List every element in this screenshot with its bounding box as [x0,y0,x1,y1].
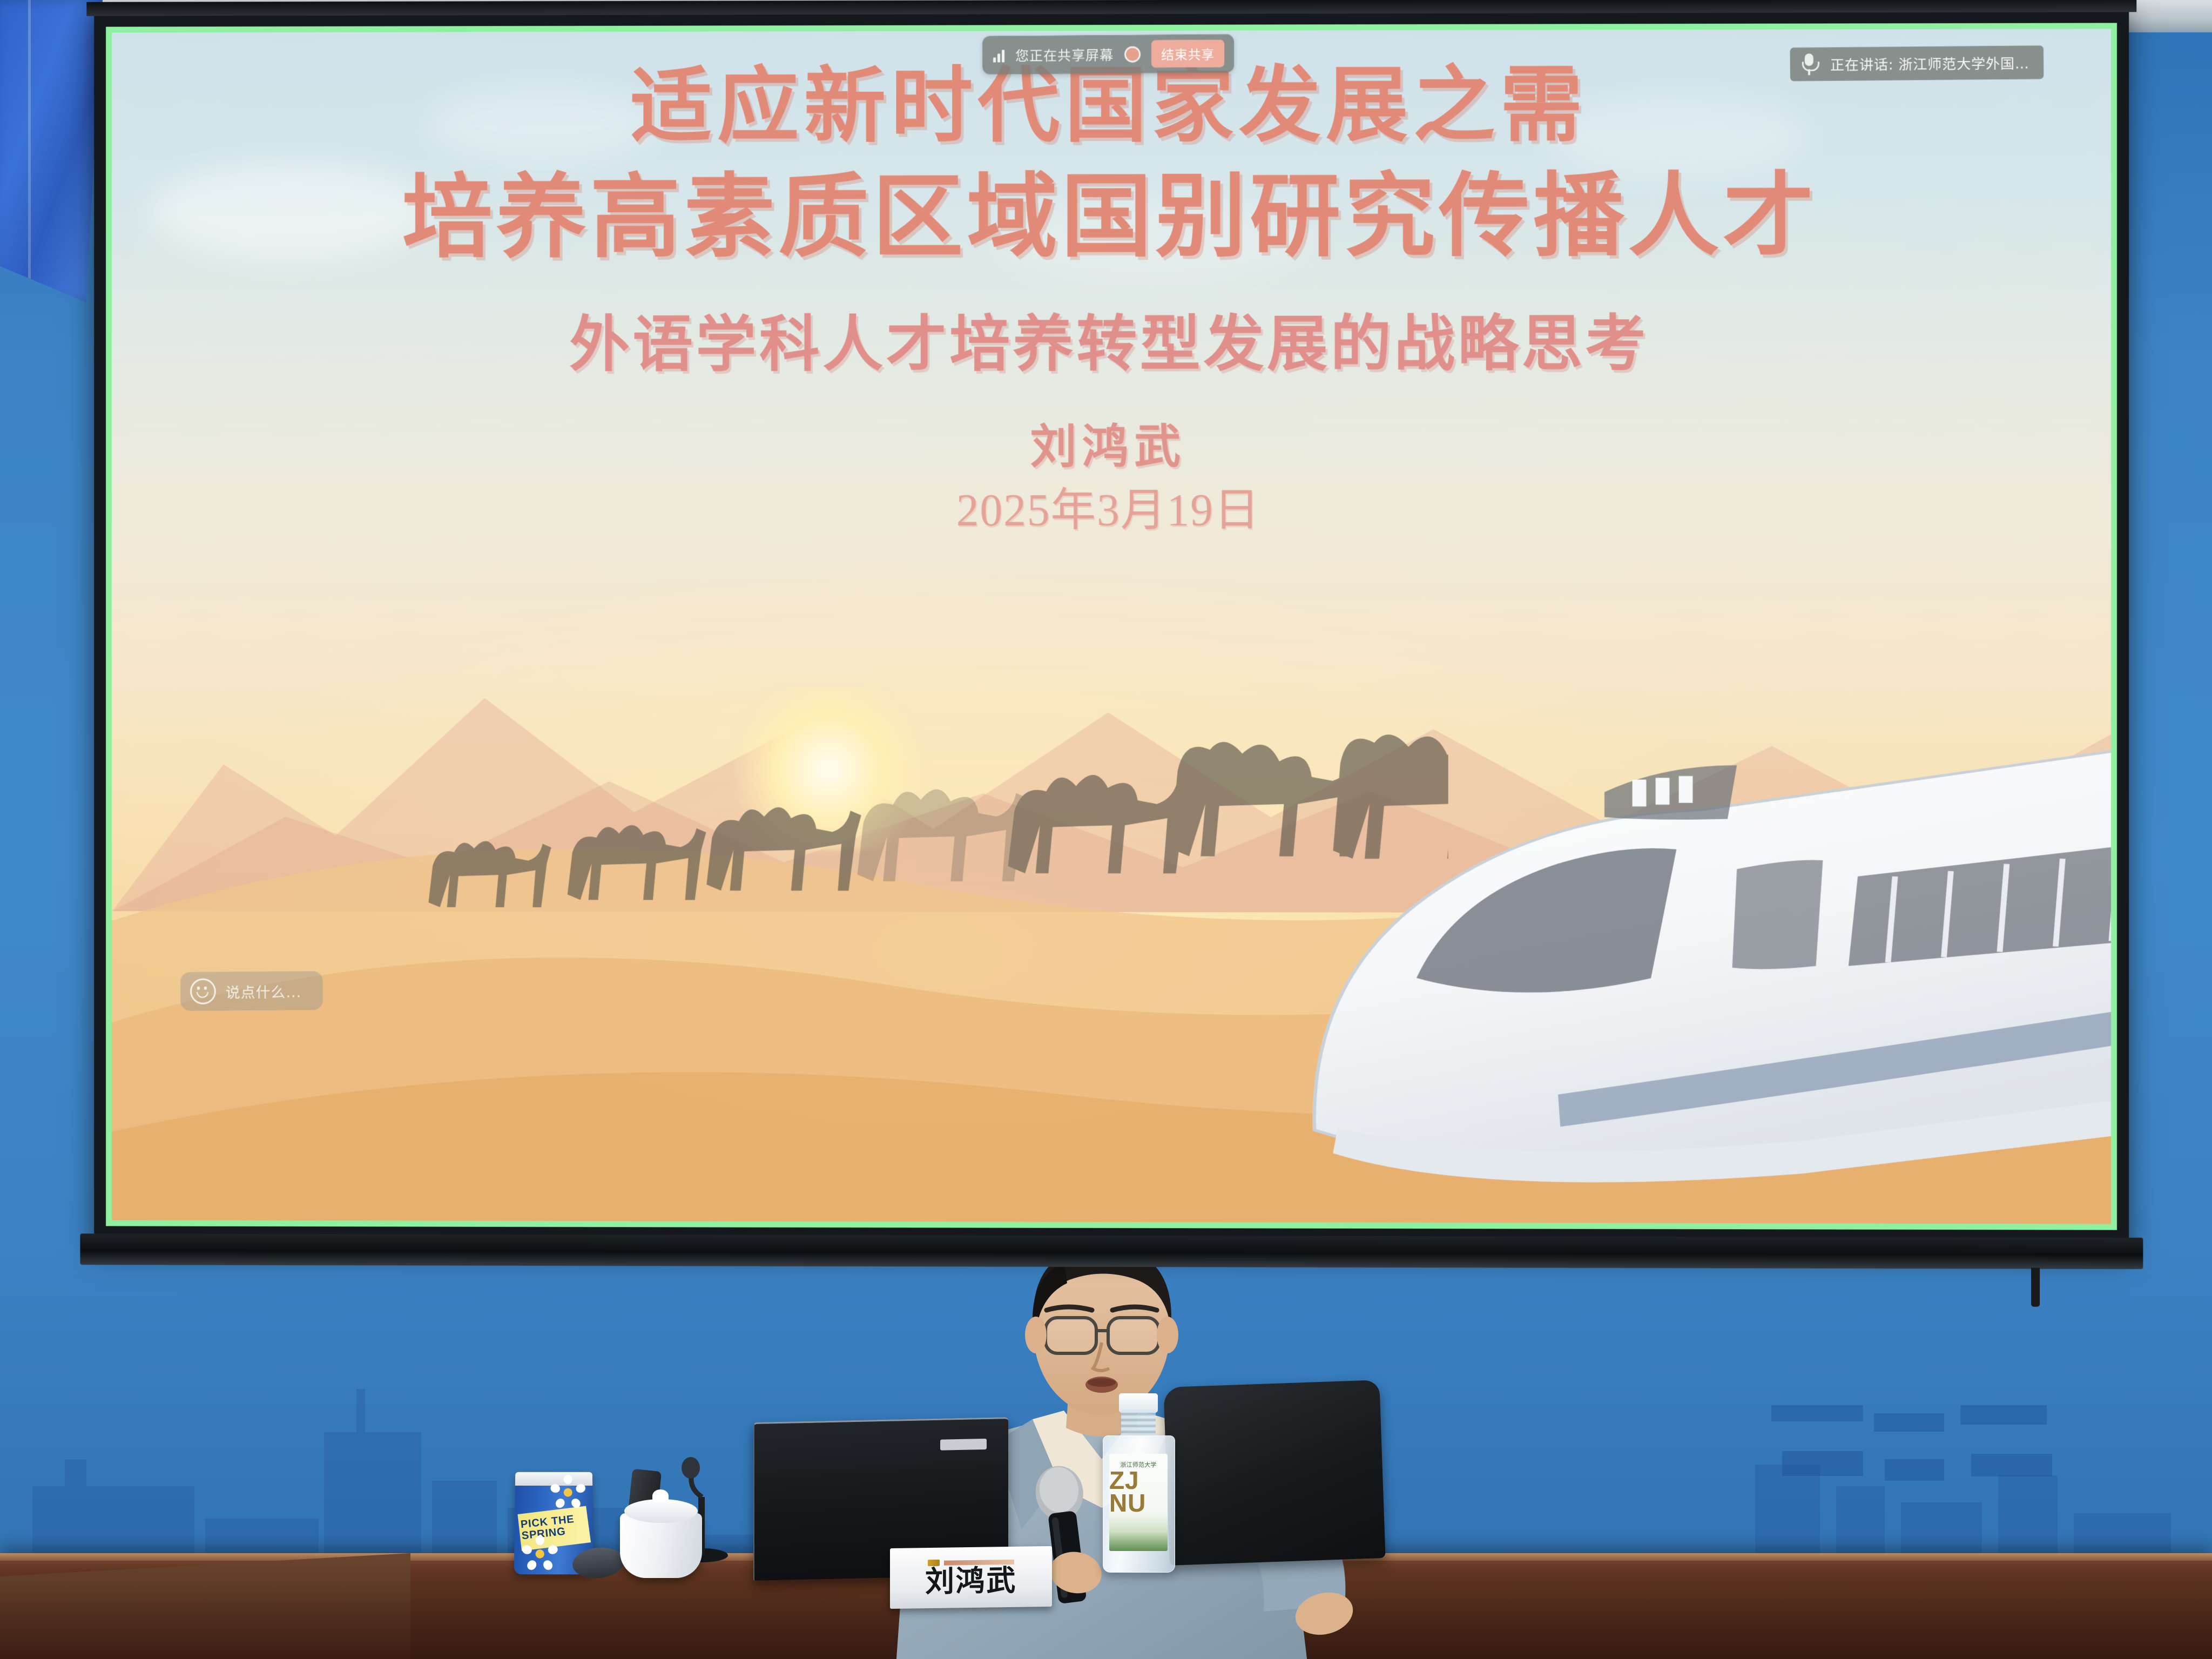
name-plate-text: 刘鸿武 [925,1566,1017,1596]
bottle-label-brand: ZJ NU [1109,1469,1168,1515]
end-share-button[interactable]: 结束共享 [1151,39,1224,68]
chat-input-bar[interactable]: 说点什么... [180,971,323,1011]
slide-title-line-2: 培养高素质区域国别研究传播人才 [112,167,2111,266]
share-status-label: 您正在共享屏幕 [1015,44,1114,64]
microphone-icon [1802,53,1816,75]
smiley-face-icon[interactable] [190,979,216,1004]
tea-cup [620,1513,702,1578]
signal-bars-icon [993,48,1004,62]
office-chair [1163,1380,1385,1566]
name-plate: 刘鸿武 [890,1546,1052,1609]
blue-banner-cloth [0,0,103,302]
projection-screen: 适应新时代国家发展之需 培养高素质区域国别研究传播人才 外语学科人才培养转型发展… [94,0,2129,1244]
slide-subtitle: 外语学科人才培养转型发展的战略思考 [112,294,2111,383]
water-bottle: 浙江师范大学 ZJ NU [1103,1394,1174,1573]
screen-share-highlight-border: 适应新时代国家发展之需 培养高素质区域国别研究传播人才 外语学科人才培养转型发展… [106,23,2117,1230]
screen-share-status-bar[interactable]: 您正在共享屏幕 结束共享 [982,34,1234,75]
slide-presenter-name: 刘鸿武 [112,408,2111,477]
slide-text-layer: 适应新时代国家发展之需 培养高素质区域国别研究传播人才 外语学科人才培养转型发展… [112,29,2111,1224]
record-dot-icon[interactable] [1124,46,1141,62]
chat-input-placeholder[interactable]: 说点什么... [226,980,302,1002]
screenshot-root: PICK THE SPRING 浙江师范大学 ZJ NU 刘鸿武 [0,0,2212,1659]
teacup-knob [652,1489,669,1502]
laptop-brand-badge [940,1439,987,1451]
flower-icon [557,1481,579,1503]
slide-date: 2025年3月19日 [112,473,2111,539]
active-speaker-indicator: 正在讲话: 浙江师范大学外国… [1790,45,2044,81]
teacup-lid [624,1499,698,1523]
bottle-label: 浙江师范大学 ZJ NU [1109,1454,1168,1551]
active-speaker-label: 正在讲话: 浙江师范大学外国… [1830,52,2029,74]
screen-bottom-bar [80,1233,2143,1269]
flower-icon [528,1542,551,1566]
presentation-slide: 适应新时代国家发展之需 培养高素质区域国别研究传播人才 外语学科人才培养转型发展… [112,29,2111,1224]
